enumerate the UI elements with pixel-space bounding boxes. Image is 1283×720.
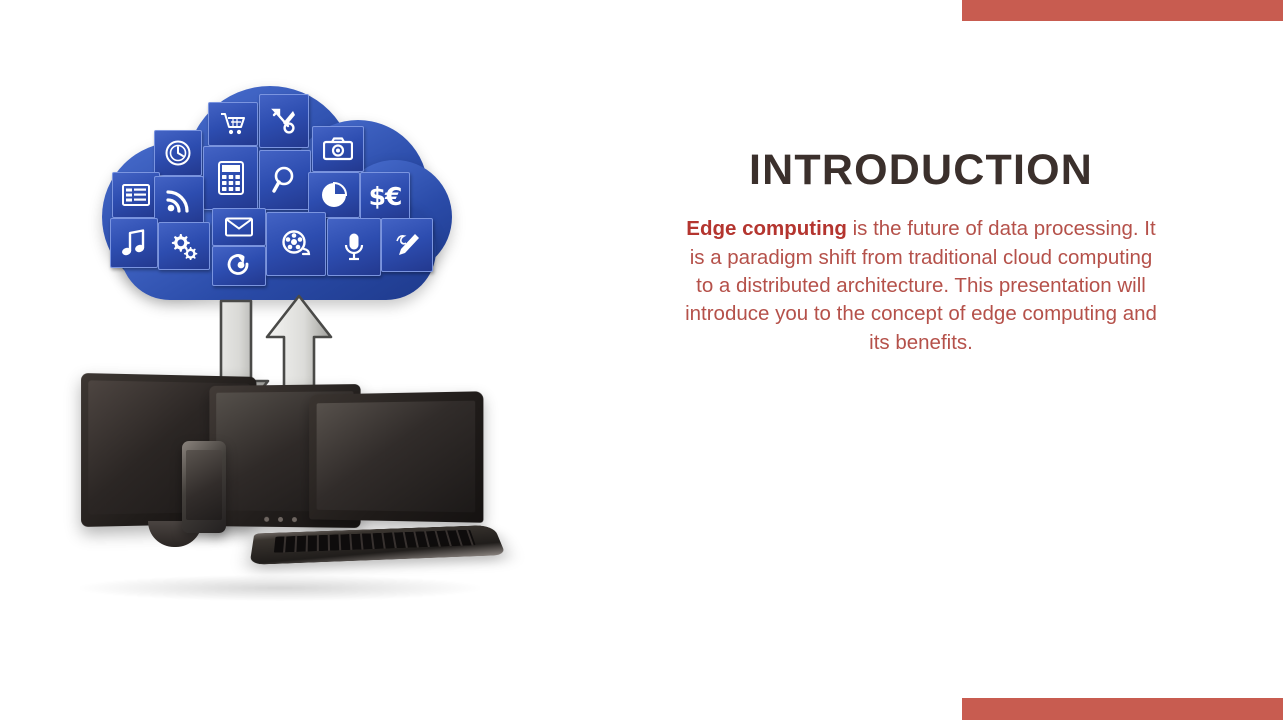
accent-bar-bottom [962,698,1283,720]
smartphone [182,441,226,533]
laptop [309,391,483,522]
rss-wifi-icon [154,176,204,224]
tablet-button-menu [292,517,297,522]
film-reel-icon [266,212,326,276]
tablet-button-back [264,517,269,522]
pen-calligraphy-icon [381,218,433,272]
phone-screen [186,450,222,520]
gears-settings-icon [158,222,210,270]
shopping-cart-icon [208,102,258,146]
calculator-icon [203,146,258,210]
laptop-base [250,525,506,565]
body-lead-phrase: Edge computing [686,217,847,240]
body-paragraph: Edge computing is the future of data pro… [684,215,1158,357]
envelope-mail-icon [212,208,266,246]
laptop-keyboard [274,530,476,553]
cloud-computing-devices-illustration: $€ [60,70,520,630]
list-document-icon [112,172,160,218]
laptop-screen [317,401,476,513]
text-column: INTRODUCTION Edge computing is the futur… [660,148,1182,357]
cloud-of-app-tiles: $€ [102,80,452,300]
presentation-slide: $€ [0,0,1283,720]
currency-icon: $€ [360,172,410,220]
camera-icon [312,126,364,172]
tablet-button-home [278,517,283,522]
accent-bar-top [962,0,1283,21]
refresh-sync-icon [212,246,266,286]
app-tile-grid: $€ [102,80,452,300]
search-magnifier-icon [259,150,311,210]
ground-shadow [80,575,480,601]
tools-wrench-icon [259,94,309,148]
microphone-icon [327,218,381,276]
device-group [60,365,480,605]
page-title: INTRODUCTION [660,148,1182,193]
music-note-icon [110,218,158,268]
clock-icon [154,130,202,176]
